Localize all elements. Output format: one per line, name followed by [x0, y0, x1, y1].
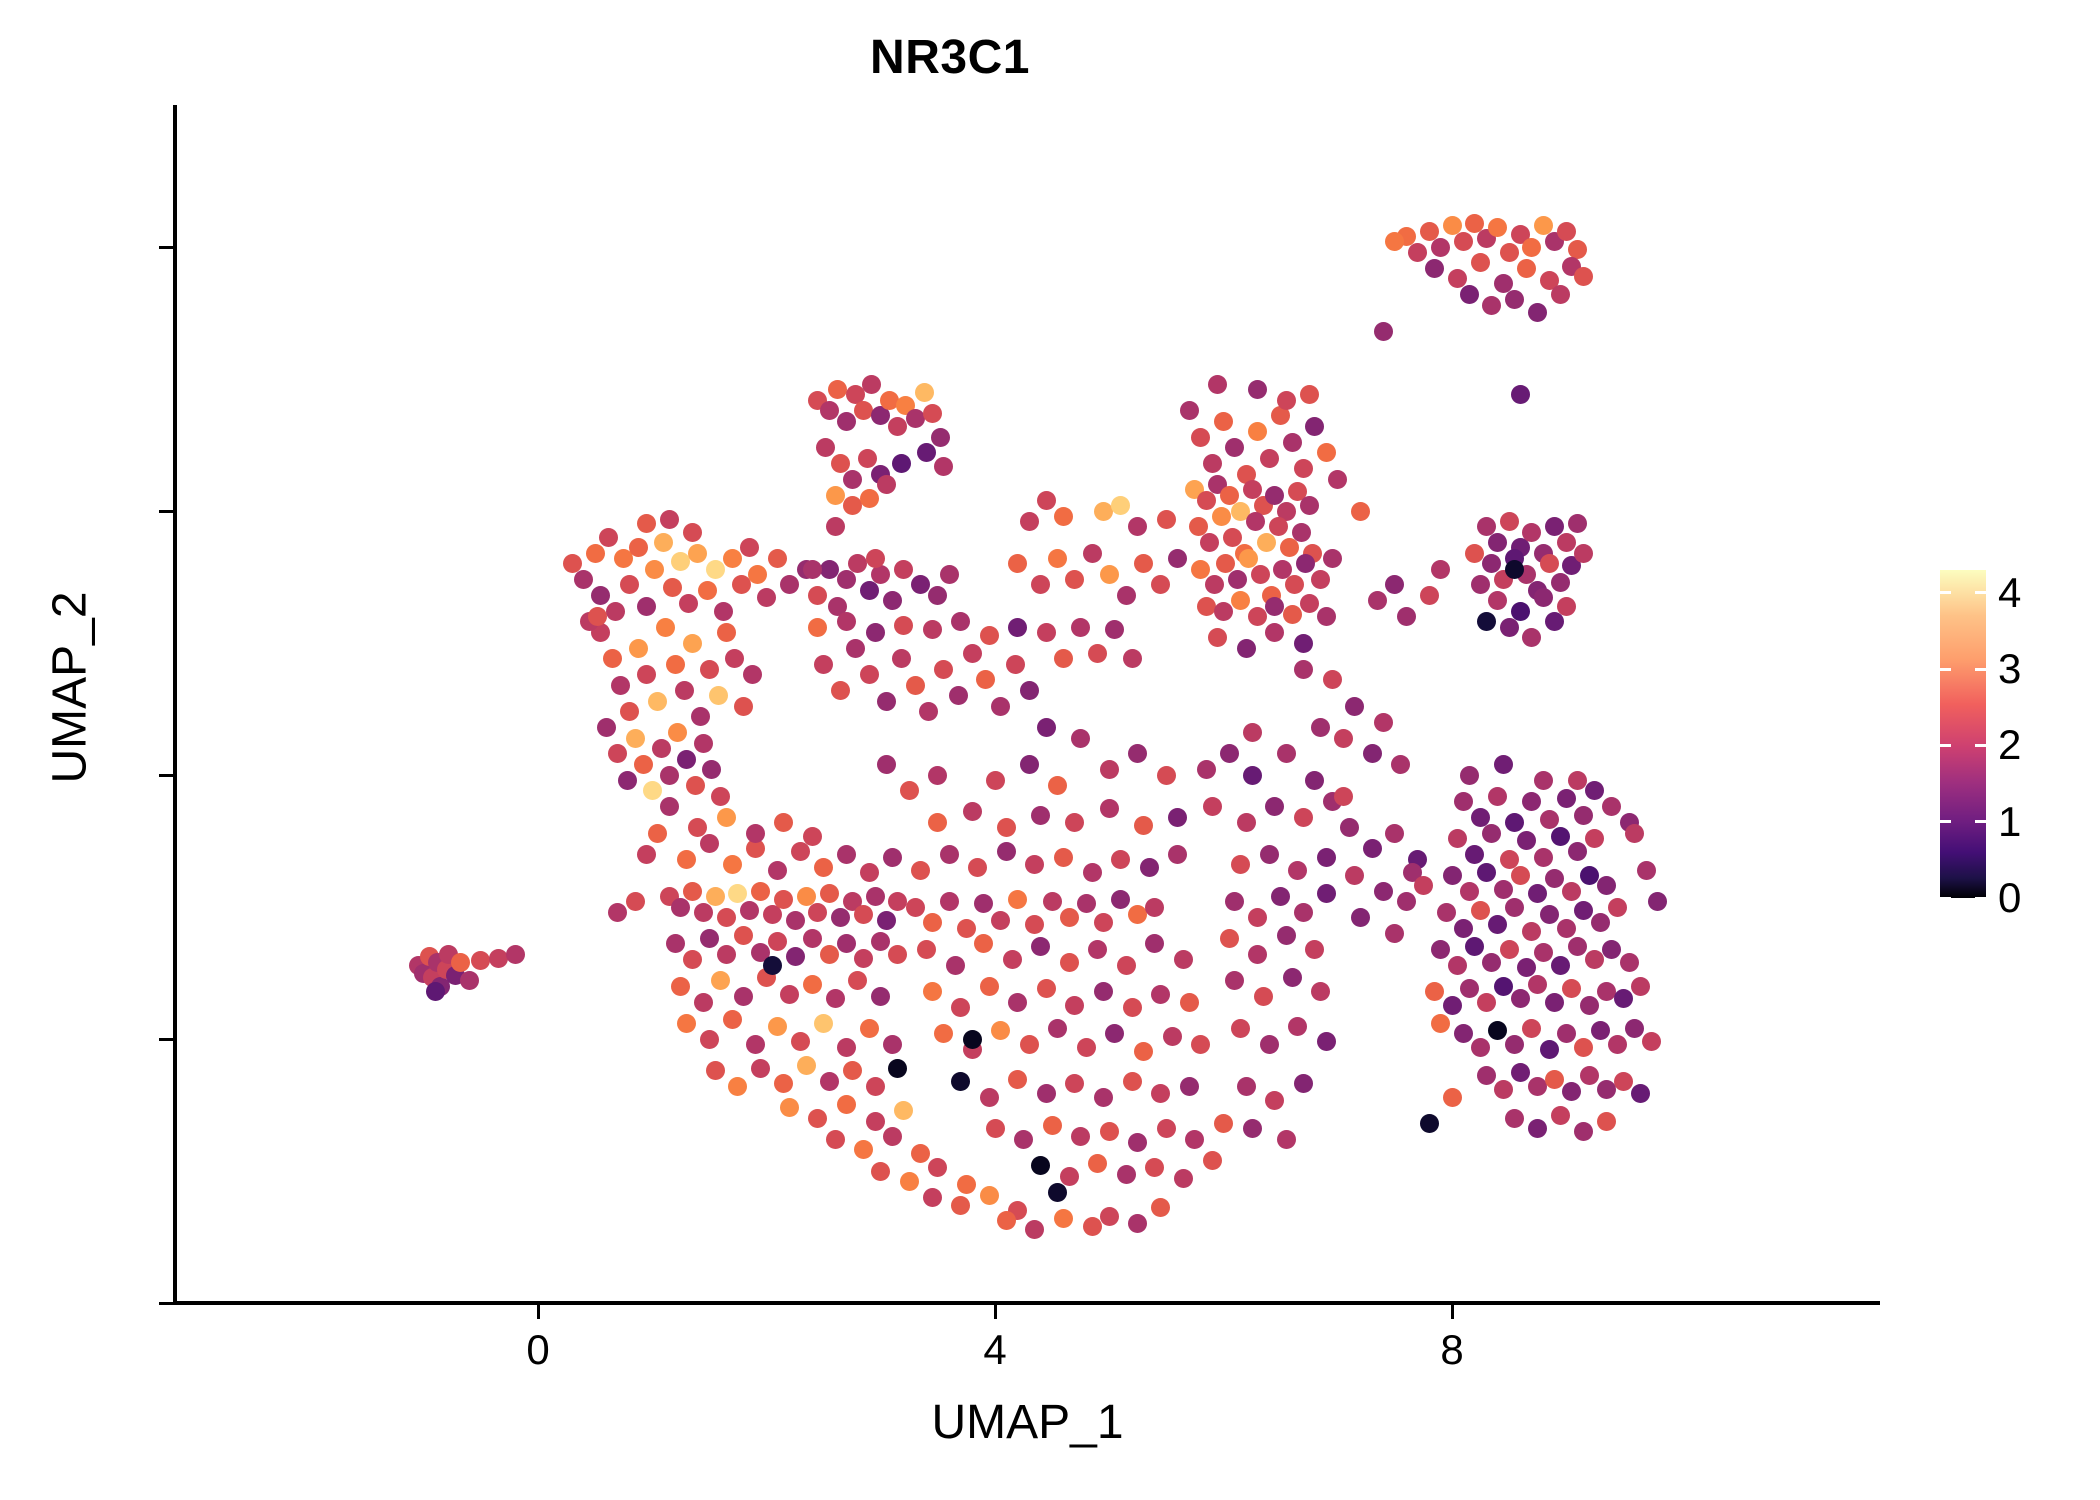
plot-panel	[175, 105, 1880, 1303]
colorbar-tick-mark	[1940, 591, 1951, 594]
colorbar-tick-label: 2	[1998, 721, 2021, 769]
y-tick-mark	[159, 774, 173, 777]
colorbar-tick-mark	[1940, 897, 1951, 900]
y-axis-line	[173, 105, 177, 1305]
colorbar-tick-mark	[1940, 668, 1951, 671]
colorbar-tick-mark	[1940, 744, 1951, 747]
x-tick-label: 4	[983, 1326, 1006, 1374]
colorbar-tick-label: 4	[1998, 569, 2021, 617]
x-tick-label: 0	[526, 1326, 549, 1374]
x-axis-label: UMAP_1	[175, 1395, 1880, 1450]
y-tick-mark	[159, 246, 173, 249]
y-tick-mark	[159, 510, 173, 513]
x-tick-label: 8	[1440, 1326, 1463, 1374]
x-tick-mark	[994, 1305, 997, 1319]
colorbar-tick-mark	[1940, 820, 1951, 823]
y-tick-mark	[159, 1302, 173, 1305]
colorbar-tick-label: 3	[1998, 645, 2021, 693]
colorbar-tick-mark	[1975, 591, 1986, 594]
colorbar-legend	[1940, 570, 1986, 898]
colorbar-tick-mark	[1975, 820, 1986, 823]
colorbar-gradient	[1940, 570, 1986, 898]
x-tick-mark	[537, 1305, 540, 1319]
colorbar-tick-mark	[1975, 668, 1986, 671]
colorbar-tick-mark	[1975, 897, 1986, 900]
x-tick-mark	[1451, 1305, 1454, 1319]
page-title: NR3C1	[0, 30, 1900, 85]
colorbar-tick-label: 0	[1998, 874, 2021, 922]
chart-root: NR3C1 UMAP_2 UMAP_1 -2.50.02.55.07.50480…	[0, 0, 2100, 1500]
y-axis-label: UMAP_2	[43, 88, 98, 1288]
x-axis-line	[173, 1301, 1880, 1305]
colorbar-tick-label: 1	[1998, 798, 2021, 846]
y-tick-mark	[159, 1038, 173, 1041]
colorbar-tick-mark	[1975, 744, 1986, 747]
